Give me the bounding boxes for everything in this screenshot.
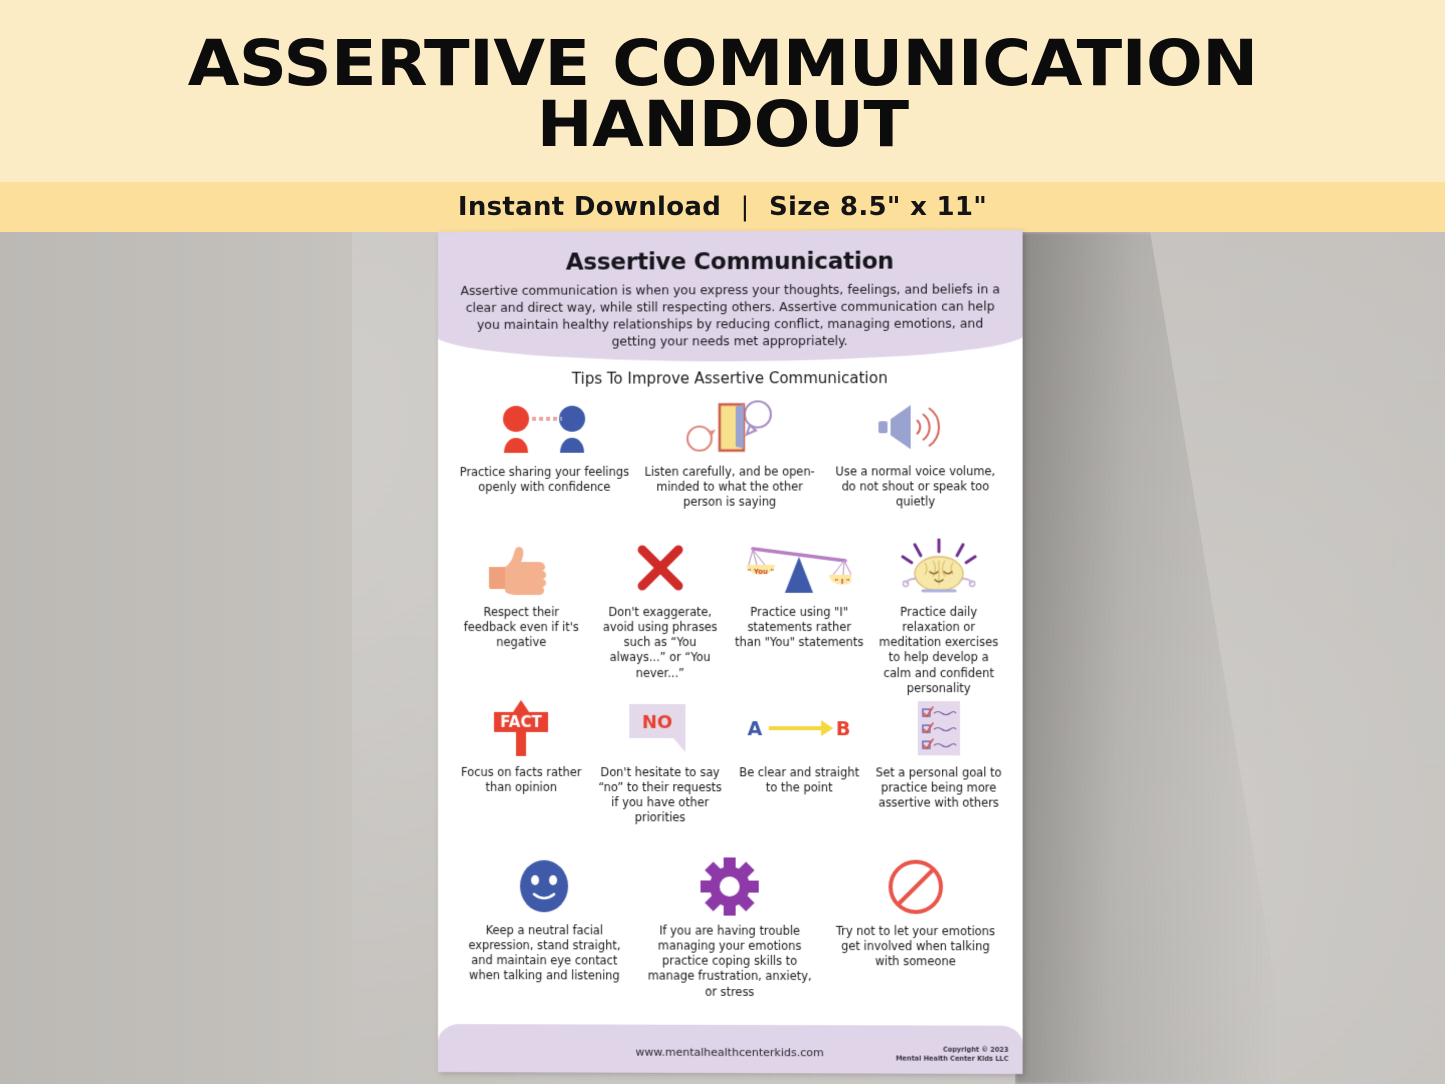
tip-caption: Keep a neutral facial expression, stand … — [452, 923, 637, 984]
speaker-volume-icon — [872, 396, 959, 458]
scale-left-label: " You " — [748, 568, 774, 576]
tip-caption: Use a normal voice volume, do not shout … — [822, 464, 1008, 510]
scale-right-label: " I " — [835, 578, 850, 586]
tip-caption: Set a personal goal to practice being mo… — [869, 765, 1009, 811]
screenshot-page: ASSERTIVE COMMUNICATION HANDOUT Instant … — [0, 0, 1445, 1084]
thumbs-up-icon — [483, 537, 559, 599]
tip-cell: Respect their feedback even if it's nega… — [452, 537, 591, 697]
subtitle-separator: | — [731, 192, 760, 222]
tip-cell: Listen carefully, and be open-minded to … — [637, 396, 823, 537]
tip-cell: Don't exaggerate, avoid using phrases su… — [591, 537, 730, 697]
gear-icon — [701, 855, 759, 917]
header-banner: ASSERTIVE COMMUNICATION HANDOUT — [0, 0, 1445, 182]
tips-grid: Practice sharing your feelings openly wi… — [452, 396, 1008, 1025]
tip-caption: Listen carefully, and be open-minded to … — [637, 464, 823, 510]
meditating-brain-icon — [894, 536, 983, 598]
handout-poster: Assertive Communication Assertive commun… — [438, 230, 1023, 1074]
tip-caption: Practice using "I" statements rather tha… — [730, 605, 869, 651]
tip-cell: If you are having trouble managing your … — [637, 855, 823, 1024]
tip-caption: If you are having trouble managing your … — [637, 923, 823, 999]
instant-download-label: Instant Download — [458, 192, 721, 222]
tip-cell: Practice daily relaxation or meditation … — [869, 536, 1009, 697]
fact-label: FACT — [501, 713, 543, 731]
no-label: NO — [642, 712, 672, 733]
tip-cell: A B Be clear and straight to the point — [730, 697, 869, 856]
two-people-connection-icon — [496, 397, 592, 459]
gray-backdrop-left-panel — [0, 232, 352, 1084]
balance-scale-icon: " You " " I " — [747, 537, 852, 599]
tip-cell: Practice sharing your feelings openly wi… — [452, 397, 637, 537]
tip-caption: Practice sharing your feelings openly wi… — [452, 465, 637, 496]
fact-signpost-icon: FACT — [486, 697, 556, 759]
tip-cell: Set a personal goal to practice being mo… — [869, 697, 1009, 856]
footer-copyright: Copyright © 2023 Mental Health Center Ki… — [896, 1046, 1009, 1064]
tip-caption: Try not to let your emotions get involve… — [822, 924, 1008, 970]
poster-intro-paragraph: Assertive communication is when you expr… — [454, 280, 1006, 350]
banner-title-line2: HANDOUT — [188, 94, 1258, 155]
tips-row-4: Keep a neutral facial expression, stand … — [452, 855, 1008, 1025]
checklist-icon — [911, 697, 965, 759]
tips-row-1: Practice sharing your feelings openly wi… — [452, 396, 1008, 537]
tip-caption: Don't hesitate to say “no” to their requ… — [591, 765, 730, 826]
open-door-speech-bubbles-icon — [683, 396, 775, 458]
tip-cell: Use a normal voice volume, do not shout … — [822, 396, 1008, 537]
tips-section-heading: Tips To Improve Assertive Communication — [438, 369, 1023, 388]
arrow-from-label: A — [748, 718, 763, 740]
tip-cell: FACT Focus on facts rather than opinion — [452, 697, 591, 855]
a-to-b-arrow-icon: A B — [747, 697, 852, 759]
no-speech-bubble-icon: NO — [623, 697, 697, 759]
tip-caption: Practice daily relaxation or meditation … — [869, 605, 1009, 696]
neutral-smiley-face-icon — [515, 855, 573, 917]
tip-caption: Don't exaggerate, avoid using phrases su… — [591, 605, 730, 681]
poster-title: Assertive Communication — [438, 248, 1023, 276]
red-x-icon — [633, 537, 687, 599]
arrow-to-label: B — [836, 718, 851, 740]
sub-banner-text: Instant Download | Size 8.5" x 11" — [458, 192, 987, 222]
tips-row-3: FACT Focus on facts rather than opinion … — [452, 697, 1008, 856]
footer-copyright-line1: Copyright © 2023 — [896, 1046, 1009, 1055]
tip-cell: Try not to let your emotions get involve… — [822, 856, 1008, 1025]
banner-title-line1: ASSERTIVE COMMUNICATION — [188, 33, 1258, 94]
banner-title: ASSERTIVE COMMUNICATION HANDOUT — [188, 27, 1258, 155]
footer-copyright-line2: Mental Health Center Kids LLC — [896, 1055, 1009, 1064]
tip-cell: " You " " I " Practice using "I" stateme… — [730, 537, 869, 698]
tip-caption: Focus on facts rather than opinion — [452, 765, 591, 795]
prohibition-sign-icon — [886, 856, 944, 918]
tip-cell: NO Don't hesitate to say “no” to their r… — [591, 697, 730, 855]
tip-caption: Be clear and straight to the point — [730, 765, 869, 796]
tip-cell: Keep a neutral facial expression, stand … — [452, 855, 637, 1024]
sub-banner: Instant Download | Size 8.5" x 11" — [0, 182, 1445, 232]
size-label: Size 8.5" x 11" — [769, 192, 987, 222]
tips-row-2: Respect their feedback even if it's nega… — [452, 536, 1008, 697]
tip-caption: Respect their feedback even if it's nega… — [452, 605, 591, 651]
